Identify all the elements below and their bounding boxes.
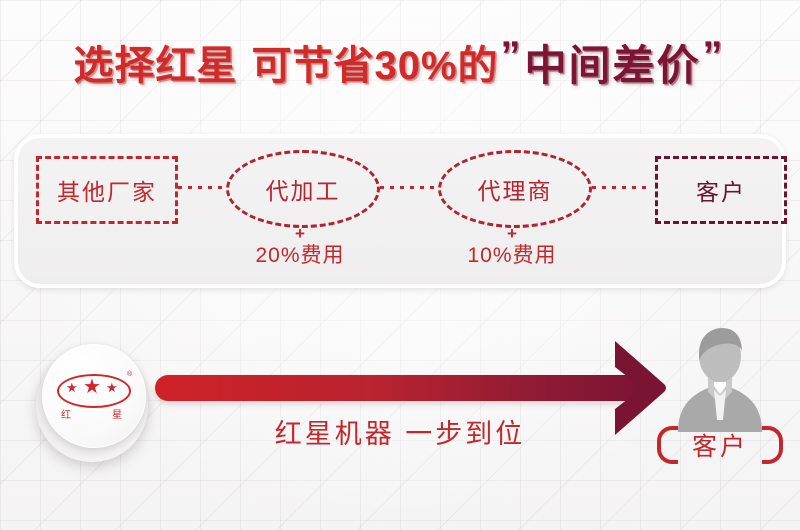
headline-prefix: 选择红星 [73,33,237,91]
fee-oem-plus: + [200,226,400,242]
headline-middle: 可节省30%的 [251,33,498,91]
chain-node-oem: 代加工 [226,150,380,228]
chain-node-customer: 客户 [655,156,787,224]
chain-connector-3 [592,186,650,189]
logo-wordmark: 红 星 [61,406,123,421]
quote-open-mark: ” [501,34,521,79]
chain-node-other-factory: 其他厂家 [36,156,178,224]
fee-agent-amount: 10%费用 [412,242,612,270]
fee-agent-plus: + [412,226,612,242]
customer-avatar-icon [660,322,780,432]
fee-agent: + 10%费用 [412,222,612,270]
flow-arrow-shaft [155,375,645,401]
bracket-left-icon [657,426,678,464]
logo-disc: ★ ★ ★ ® 红 星 [42,344,146,448]
flow-arrow-label: 红星机器 一步到位 [180,412,620,451]
star-icon-left: ★ [66,381,78,394]
logo-wordmark-left: 红 [61,406,72,421]
fee-oem-amount: 20%费用 [200,242,400,270]
headline-highlight: 中间差价 [525,32,701,93]
logo-wordmark-right: 星 [112,406,123,421]
supply-chain-diagram: 其他厂家 代加工 代理商 客户 + 20%费用 + 10%费用 [14,134,786,288]
logo-mark: ★ ★ ★ ® 红 星 [55,370,133,422]
customer-label: 客户 [692,427,748,463]
headline: 选择红星 可节省30%的 ” 中间差价 ” [0,26,800,98]
star-icon-right: ★ [106,381,118,394]
bracket-right-icon [762,426,783,464]
chain-connector-1 [178,186,222,189]
customer-label-group: 客户 [640,425,800,465]
fee-oem: + 20%费用 [200,222,400,270]
poster-canvas: 选择红星 可节省30%的 ” 中间差价 ” 其他厂家 代加工 代理商 客户 + … [0,0,800,530]
star-icon-center: ★ [83,377,101,397]
brand-logo: ★ ★ ★ ® 红 星 [32,340,152,460]
quote-close-mark: ” [703,34,723,79]
registered-trademark-icon: ® [127,371,132,378]
chain-connector-2 [380,186,434,189]
chain-node-agent: 代理商 [438,150,592,228]
